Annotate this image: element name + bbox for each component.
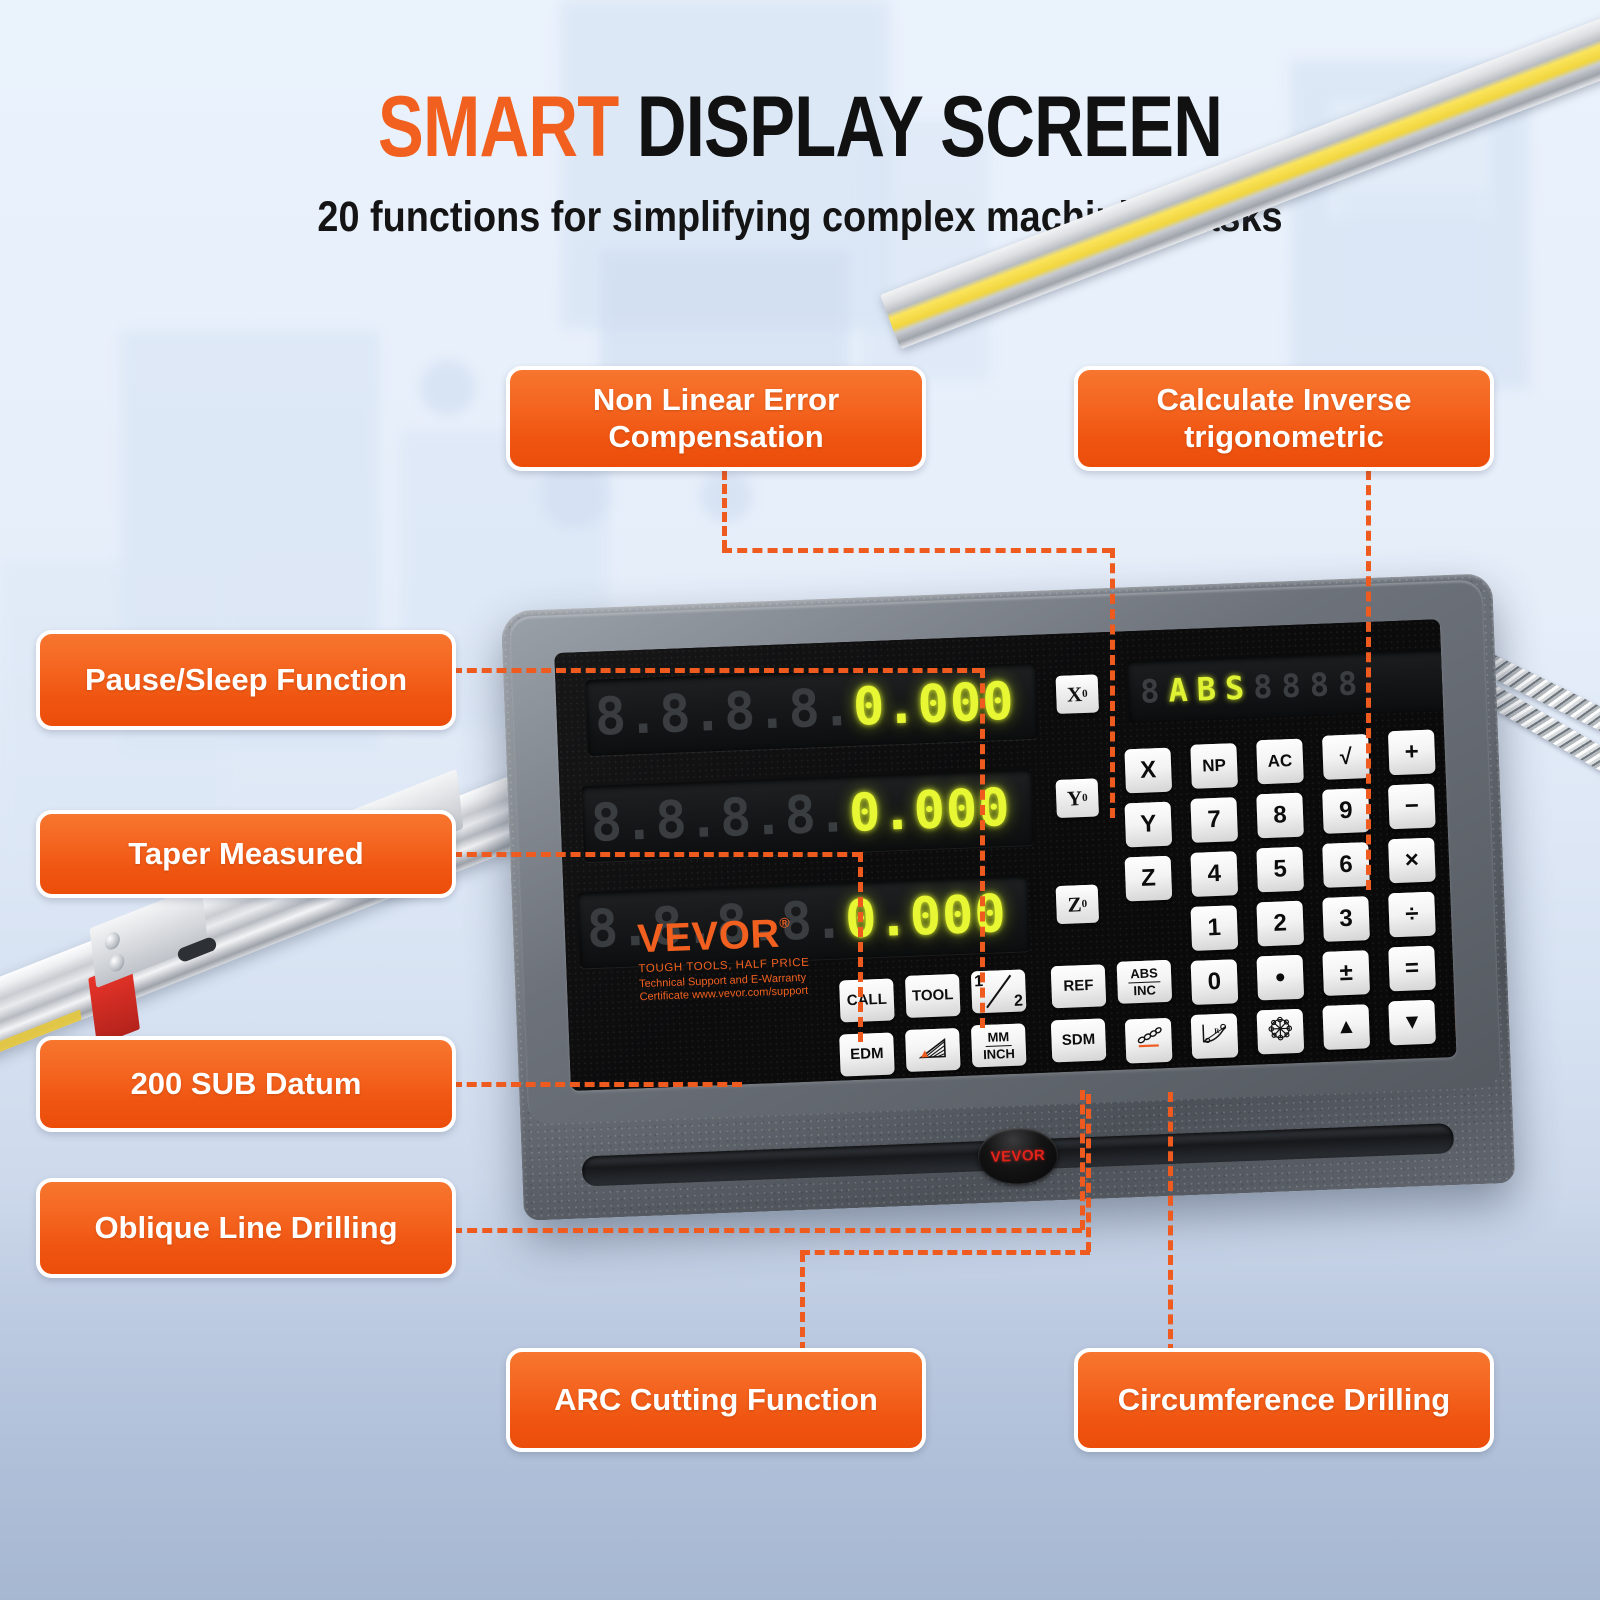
status-char: 8: [1309, 669, 1329, 702]
key-call[interactable]: CALL: [839, 978, 895, 1022]
connector-inverse-trig: [1366, 470, 1371, 890]
keypad-key-4-label: 4: [1207, 862, 1221, 887]
keypad-key-0-label: 0: [1207, 970, 1221, 995]
background-dial-silhouette: [420, 360, 476, 416]
keypad-key-3[interactable]: 3: [1322, 896, 1370, 942]
axis-key-x-sub: 0: [1082, 688, 1088, 700]
keypad-key-sqrt[interactable]: √: [1322, 734, 1370, 780]
axis-key-z-sub: 0: [1081, 898, 1087, 910]
keypad-key-y[interactable]: Y: [1124, 802, 1172, 848]
callout-arc-cutting-function[interactable]: ARC Cutting Function: [506, 1348, 926, 1452]
keypad-key-ac[interactable]: AC: [1256, 739, 1304, 785]
callout-label: Oblique Line Drilling: [94, 1210, 397, 1247]
status-char: A: [1168, 674, 1188, 707]
keypad-key-8-label: 8: [1273, 803, 1287, 828]
key-up-arrow[interactable]: ▲: [1322, 1004, 1370, 1050]
key-edm-label: EDM: [850, 1046, 884, 1063]
callout-label: Non Linear Error Compensation: [524, 382, 908, 455]
callout-label: Pause/Sleep Function: [85, 662, 407, 699]
callout-label: 200 SUB Datum: [131, 1066, 362, 1103]
readout-x-value: 0.000: [852, 676, 1015, 734]
key-abs-inc[interactable]: ABS INC: [1117, 960, 1173, 1004]
bolt-circle-icon: [1266, 1015, 1295, 1048]
key-inc-label: INC: [1133, 982, 1156, 997]
key-oblique-line-drilling[interactable]: [1125, 1018, 1173, 1064]
key-sdm[interactable]: SDM: [1051, 1018, 1107, 1062]
axis-key-z[interactable]: Z0: [1056, 885, 1099, 925]
status-char: B: [1196, 673, 1216, 706]
keypad-key-7-label: 7: [1207, 808, 1221, 833]
key-abs-inc-stack: ABS INC: [1128, 966, 1161, 997]
keypad-key-3-label: 3: [1339, 907, 1353, 932]
keypad-key-multiply[interactable]: ×: [1388, 838, 1436, 884]
status-char: 8: [1253, 671, 1273, 704]
keypad-key-plus[interactable]: +: [1388, 730, 1436, 776]
page-title-highlight: SMART: [378, 79, 619, 175]
key-mm-inch-stack: MM INCH: [982, 1030, 1015, 1061]
keypad-key-equals[interactable]: =: [1388, 946, 1436, 992]
keypad-key-y-label: Y: [1140, 812, 1157, 837]
keypad-key-6[interactable]: 6: [1322, 842, 1370, 888]
taper-icon: [917, 1036, 948, 1064]
key-sdm-label: SDM: [1062, 1032, 1096, 1049]
keypad-key-ac-label: AC: [1267, 752, 1292, 770]
callout-label: Calculate Inverse trigonometric: [1092, 382, 1476, 455]
key-mm-label: MM: [985, 1030, 1011, 1046]
readout-y-value: 0.000: [848, 782, 1011, 840]
connector-arc-cutting: [800, 1252, 805, 1352]
axis-key-z-label: Z: [1067, 892, 1082, 918]
divide-icon: ÷: [1405, 902, 1419, 927]
status-char: S: [1224, 672, 1244, 705]
plus-icon: +: [1404, 740, 1419, 765]
callout-calculate-inverse-trigonometric[interactable]: Calculate Inverse trigonometric: [1074, 366, 1494, 471]
vevor-wordmark: VEVOR®: [637, 908, 889, 963]
keypad-key-plusminus[interactable]: ±: [1322, 950, 1370, 996]
keypad-key-1[interactable]: 1: [1191, 905, 1239, 951]
keypad-key-2[interactable]: 2: [1256, 901, 1304, 947]
readout-y-dim: 8.8.8.8.: [590, 788, 850, 850]
minus-icon: −: [1404, 794, 1419, 819]
key-tool[interactable]: TOOL: [905, 974, 961, 1018]
oblique-drill-icon: [1133, 1025, 1164, 1056]
readout-x-dim: 8.8.8.8.: [594, 682, 854, 744]
key-mm-inch[interactable]: MM INCH: [971, 1023, 1027, 1067]
axis-key-x-label: X: [1066, 682, 1082, 708]
key-circumference-drilling[interactable]: [1257, 1009, 1305, 1055]
vevor-badge-text: VEVOR: [990, 1146, 1045, 1165]
page-title-rest: DISPLAY SCREEN: [637, 79, 1222, 175]
callout-oblique-line-drilling[interactable]: Oblique Line Drilling: [36, 1178, 456, 1278]
axis-key-x[interactable]: X0: [1056, 674, 1099, 714]
key-ref-label: REF: [1063, 978, 1094, 994]
keypad-key-1-label: 1: [1207, 916, 1221, 941]
connector-arc-cutting: [800, 1250, 1090, 1255]
axis-key-y[interactable]: Y0: [1056, 778, 1099, 818]
keypad-key-decimal[interactable]: •: [1256, 955, 1304, 1001]
connector-non-linear-error: [722, 470, 727, 550]
callout-taper-measured[interactable]: Taper Measured: [36, 810, 456, 898]
axis-key-y-label: Y: [1066, 786, 1082, 812]
page-subtitle: 20 functions for simplifying complex mac…: [96, 193, 1504, 242]
keypad-key-5[interactable]: 5: [1256, 847, 1304, 893]
callout-label: ARC Cutting Function: [554, 1382, 878, 1419]
connector-arc-cutting: [1086, 1094, 1091, 1252]
connector-non-linear-error: [722, 548, 1112, 553]
key-arc-cutting[interactable]: R: [1191, 1013, 1239, 1059]
keypad-key-z-label: Z: [1141, 866, 1157, 891]
connector-circumference-drilling: [1168, 1092, 1173, 1354]
arc-cut-icon: R: [1199, 1021, 1230, 1052]
status-display: 8 A B S 8 8 8 8: [1127, 648, 1456, 723]
registered-mark: ®: [779, 914, 790, 930]
keypad-key-5-label: 5: [1273, 857, 1287, 882]
keypad-key-z[interactable]: Z: [1125, 856, 1173, 902]
key-edm[interactable]: EDM: [839, 1033, 895, 1077]
connector-oblique-drilling: [1080, 1090, 1085, 1230]
connector-taper-measured: [452, 852, 862, 857]
callout-pause-sleep-function[interactable]: Pause/Sleep Function: [36, 630, 456, 730]
up-arrow-icon: ▲: [1335, 1016, 1357, 1038]
key-taper[interactable]: [905, 1028, 961, 1072]
key-tool-label: TOOL: [912, 988, 954, 1005]
connector-sub-datum: [452, 1082, 742, 1087]
keypad-key-divide[interactable]: ÷: [1388, 892, 1436, 938]
status-char: 8: [1281, 670, 1301, 703]
key-down-arrow[interactable]: ▼: [1388, 1000, 1436, 1046]
multiply-icon: ×: [1404, 848, 1419, 873]
callout-label: Circumference Drilling: [1118, 1382, 1450, 1419]
vevor-wordmark-text: VEVOR: [637, 912, 781, 962]
keypad-key-np-label: NP: [1202, 757, 1226, 775]
connector-taper-measured: [858, 852, 863, 1042]
keypad-key-8[interactable]: 8: [1256, 793, 1304, 839]
keypad-key-9-label: 9: [1339, 798, 1353, 823]
callout-non-linear-error-compensation[interactable]: Non Linear Error Compensation: [506, 366, 926, 471]
decimal-point-icon: •: [1275, 963, 1286, 992]
callout-label: Taper Measured: [128, 836, 363, 873]
keypad-key-x-label: X: [1140, 758, 1157, 783]
callout-circumference-drilling[interactable]: Circumference Drilling: [1074, 1348, 1494, 1452]
status-char: 8: [1337, 667, 1357, 700]
keypad-key-2-label: 2: [1273, 911, 1287, 936]
keypad-key-0[interactable]: 0: [1191, 959, 1239, 1005]
plus-minus-icon: ±: [1339, 961, 1353, 986]
key-ref[interactable]: REF: [1051, 964, 1107, 1008]
key-abs-label: ABS: [1128, 966, 1160, 982]
connector-non-linear-error: [1110, 548, 1115, 818]
keypad-key-6-label: 6: [1339, 853, 1353, 878]
key-inch-label: INCH: [983, 1045, 1015, 1060]
sqrt-icon: √: [1339, 745, 1352, 768]
equals-icon: =: [1405, 956, 1420, 981]
status-char: 8: [1140, 675, 1160, 708]
keypad-key-minus[interactable]: −: [1388, 784, 1436, 830]
keypad-key-4[interactable]: 4: [1190, 851, 1238, 897]
keypad-key-7[interactable]: 7: [1190, 797, 1238, 843]
callout-200-sub-datum[interactable]: 200 SUB Datum: [36, 1036, 456, 1132]
down-arrow-icon: ▼: [1401, 1011, 1423, 1033]
connector-oblique-drilling: [452, 1228, 1082, 1233]
keypad-key-np[interactable]: NP: [1190, 743, 1238, 789]
keypad-key-9[interactable]: 9: [1322, 788, 1370, 834]
connector-pause-sleep: [980, 668, 985, 1028]
connector-pause-sleep: [452, 668, 982, 673]
key-call-label: CALL: [847, 992, 888, 1009]
axis-key-y-sub: 0: [1082, 792, 1088, 804]
keypad-key-x[interactable]: X: [1124, 748, 1172, 794]
